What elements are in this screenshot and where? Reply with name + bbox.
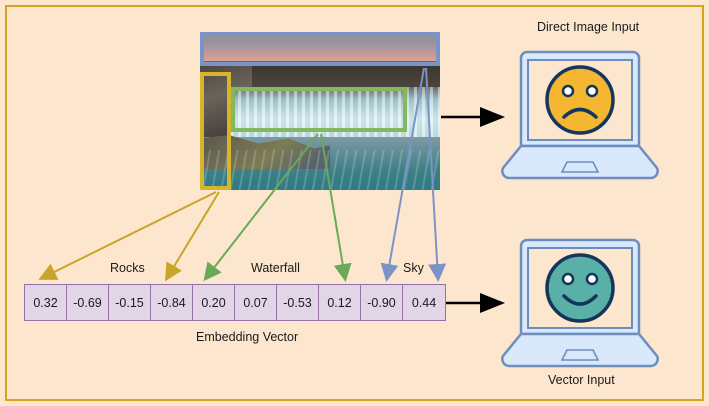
rocks-region-box: [200, 72, 231, 190]
laptop-trackpad-notch: [562, 350, 598, 360]
vector-cell: 0.20: [193, 285, 235, 320]
sad-face-icon: [547, 67, 613, 133]
vector-cell: 0.07: [235, 285, 277, 320]
vector-cell: -0.84: [151, 285, 193, 320]
embedding-vector: 0.32 -0.69 -0.15 -0.84 0.20 0.07 -0.53 0…: [24, 284, 446, 321]
waterfall-region-box: [231, 87, 407, 132]
vector-cell: -0.90: [361, 285, 403, 320]
laptop-direct-image-input: [495, 50, 665, 180]
direct-image-input-caption: Direct Image Input: [537, 20, 639, 34]
vector-input-caption: Vector Input: [548, 373, 615, 387]
laptop-vector-input: [495, 238, 665, 368]
label-sky: Sky: [403, 261, 424, 275]
vector-cell: -0.69: [67, 285, 109, 320]
sky-region-box: [200, 32, 440, 66]
diagram-canvas: Rocks Waterfall Sky 0.32 -0.69 -0.15 -0.…: [0, 0, 709, 406]
happy-face-icon: [547, 255, 613, 321]
embedding-vector-caption: Embedding Vector: [196, 330, 298, 344]
label-waterfall: Waterfall: [251, 261, 300, 275]
vector-cell: 0.12: [319, 285, 361, 320]
vector-cell: -0.53: [277, 285, 319, 320]
vector-cell: 0.44: [403, 285, 445, 320]
vector-cell: 0.32: [25, 285, 67, 320]
laptop-trackpad-notch: [562, 162, 598, 172]
photo-water-texture: [200, 150, 440, 190]
label-rocks: Rocks: [110, 261, 145, 275]
vector-cell: -0.15: [109, 285, 151, 320]
